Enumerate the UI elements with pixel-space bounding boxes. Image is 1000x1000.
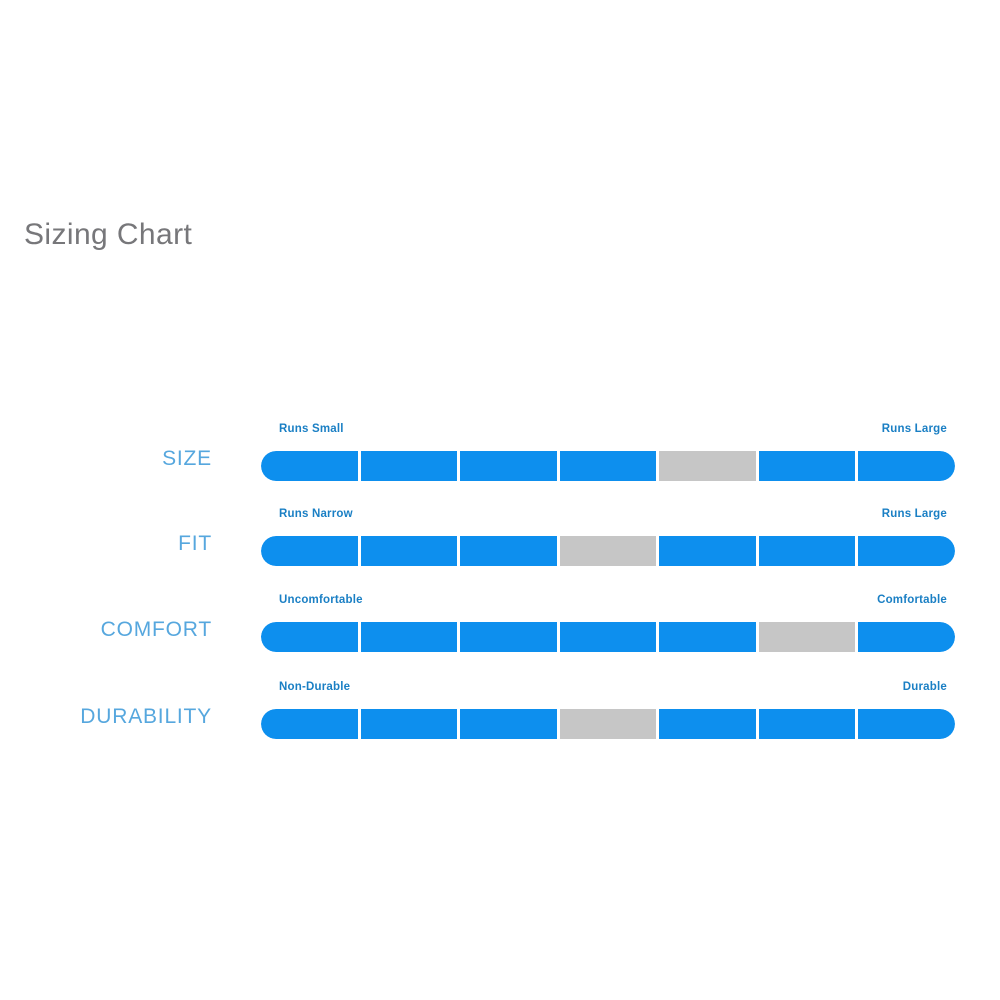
scale-segment-durability-6[interactable] [759, 709, 856, 739]
sizing-row-fit: FITRuns NarrowRuns Large [0, 508, 1000, 570]
scale-left-label-size: Runs Small [279, 423, 344, 435]
scale-segment-comfort-5[interactable] [659, 622, 756, 652]
scale-right-label-size: Runs Large [882, 423, 947, 435]
scale-fit: Runs NarrowRuns Large [261, 508, 955, 570]
scale-right-label-comfort: Comfortable [877, 594, 947, 606]
scale-right-label-durability: Durable [903, 681, 947, 693]
row-label-comfort: COMFORT [20, 618, 212, 642]
scale-track-durability[interactable] [261, 709, 955, 739]
scale-track-comfort[interactable] [261, 622, 955, 652]
scale-left-label-durability: Non-Durable [279, 681, 350, 693]
scale-marker-segment-fit[interactable] [560, 536, 657, 566]
scale-segment-durability-1[interactable] [261, 709, 358, 739]
scale-segment-comfort-7[interactable] [858, 622, 955, 652]
scale-right-label-fit: Runs Large [882, 508, 947, 520]
scale-segment-fit-7[interactable] [858, 536, 955, 566]
scale-segment-fit-1[interactable] [261, 536, 358, 566]
page-title: Sizing Chart [24, 218, 192, 252]
scale-segment-fit-3[interactable] [460, 536, 557, 566]
scale-marker-segment-durability[interactable] [560, 709, 657, 739]
scale-segment-durability-3[interactable] [460, 709, 557, 739]
scale-left-label-comfort: Uncomfortable [279, 594, 363, 606]
scale-marker-segment-comfort[interactable] [759, 622, 856, 652]
scale-endcaps-comfort: UncomfortableComfortable [261, 594, 955, 614]
row-label-fit: FIT [20, 532, 212, 556]
scale-size: Runs SmallRuns Large [261, 423, 955, 485]
scale-segment-size-3[interactable] [460, 451, 557, 481]
scale-segment-comfort-2[interactable] [361, 622, 458, 652]
scale-segment-size-1[interactable] [261, 451, 358, 481]
row-label-size: SIZE [20, 447, 212, 471]
scale-endcaps-size: Runs SmallRuns Large [261, 423, 955, 443]
scale-track-fit[interactable] [261, 536, 955, 566]
sizing-row-comfort: COMFORTUncomfortableComfortable [0, 594, 1000, 656]
row-label-durability: DURABILITY [20, 705, 212, 729]
scale-endcaps-durability: Non-DurableDurable [261, 681, 955, 701]
scale-track-size[interactable] [261, 451, 955, 481]
scale-segment-durability-2[interactable] [361, 709, 458, 739]
scale-segment-comfort-3[interactable] [460, 622, 557, 652]
scale-comfort: UncomfortableComfortable [261, 594, 955, 656]
scale-segment-durability-7[interactable] [858, 709, 955, 739]
scale-segment-durability-5[interactable] [659, 709, 756, 739]
scale-segment-comfort-1[interactable] [261, 622, 358, 652]
scale-segment-size-7[interactable] [858, 451, 955, 481]
sizing-chart-page: Sizing Chart SIZERuns SmallRuns LargeFIT… [0, 0, 1000, 1000]
scale-segment-size-2[interactable] [361, 451, 458, 481]
sizing-row-size: SIZERuns SmallRuns Large [0, 423, 1000, 485]
scale-left-label-fit: Runs Narrow [279, 508, 353, 520]
scale-segment-fit-5[interactable] [659, 536, 756, 566]
scale-marker-segment-size[interactable] [659, 451, 756, 481]
sizing-row-durability: DURABILITYNon-DurableDurable [0, 681, 1000, 743]
scale-segment-fit-2[interactable] [361, 536, 458, 566]
scale-durability: Non-DurableDurable [261, 681, 955, 743]
scale-segment-fit-6[interactable] [759, 536, 856, 566]
scale-segment-size-6[interactable] [759, 451, 856, 481]
scale-segment-size-4[interactable] [560, 451, 657, 481]
scale-endcaps-fit: Runs NarrowRuns Large [261, 508, 955, 528]
scale-segment-comfort-4[interactable] [560, 622, 657, 652]
